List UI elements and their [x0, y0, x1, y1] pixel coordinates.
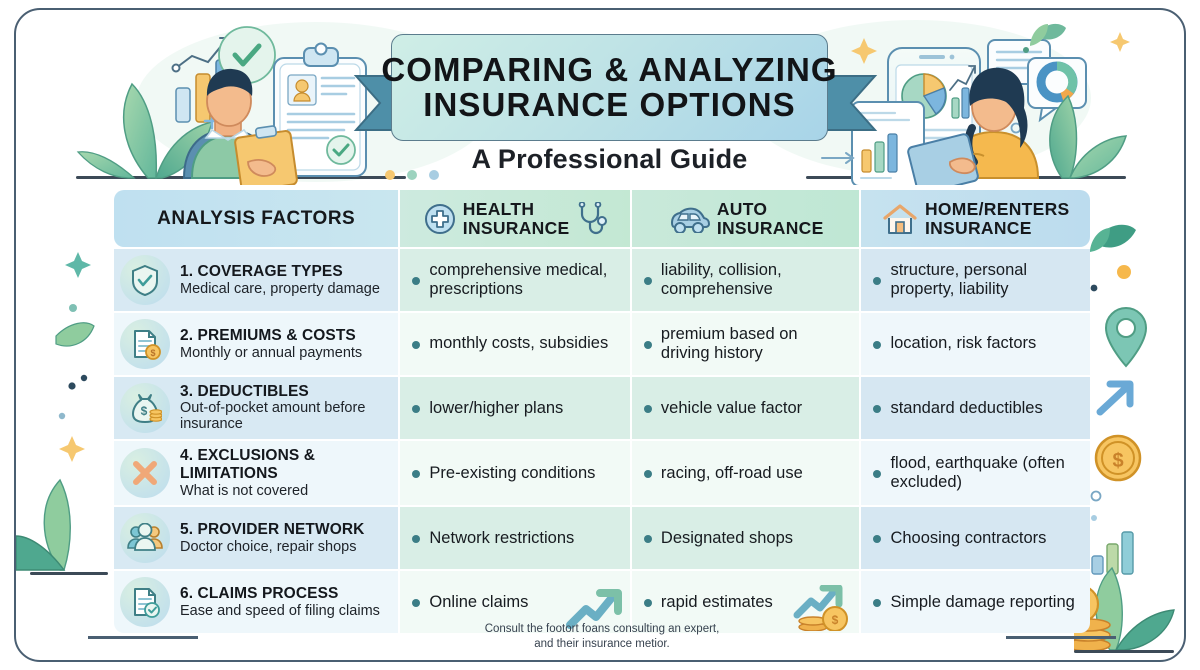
- home-cell: standard deductibles: [861, 377, 1090, 439]
- factor-subtitle: Monthly or annual payments: [180, 345, 362, 361]
- dot-orange-right: [1117, 265, 1131, 279]
- column-header-line2: INSURANCE: [717, 219, 824, 238]
- column-header-home-renters-insurance: HOME/RENTERS INSURANCE: [861, 190, 1090, 247]
- footer-rule-right: [1006, 636, 1116, 639]
- factor-title: 6. CLAIMS PROCESS: [180, 585, 380, 602]
- cell-text: premium based on driving history: [661, 325, 850, 363]
- auto-cell: vehicle value factor: [632, 377, 860, 439]
- cell-text: Choosing contractors: [890, 529, 1046, 548]
- cell-text: racing, off-road use: [661, 464, 803, 483]
- bullet-icon: [644, 599, 652, 607]
- factor-title: 1. COVERAGE TYPES: [180, 263, 380, 280]
- bullet-icon: [873, 277, 881, 285]
- factor-title: 5. PROVIDER NETWORK: [180, 521, 364, 538]
- document-check-icon: [120, 577, 170, 627]
- table-header-row: ANALYSIS FACTORS HEALTH INSURANCE: [114, 190, 1090, 247]
- footer-line-2: and their insurance metior.: [16, 637, 1186, 652]
- bullet-icon: [412, 277, 420, 285]
- cell-text: Designated shops: [661, 529, 793, 548]
- money-bag-icon: $: [120, 383, 170, 433]
- factor-title: 4. EXCLUSIONS & LIMITATIONS: [180, 447, 390, 482]
- home-cell: Choosing contractors: [861, 507, 1090, 569]
- footer: Consult the footort foans consulting an …: [16, 622, 1186, 652]
- dot-light: [59, 413, 65, 419]
- arrow-up-icon: [1100, 384, 1130, 412]
- right-margin-decorations: $ $: [1074, 190, 1184, 660]
- left-margin-decorations: [16, 190, 116, 660]
- column-header-line1: AUTO: [717, 200, 824, 219]
- bullet-icon: [873, 535, 881, 543]
- title-line-2: INSURANCE OPTIONS: [423, 88, 796, 122]
- sparkle-icon-2: [1110, 32, 1130, 52]
- document-dollar-icon: $: [120, 319, 170, 369]
- bullet-icon: [412, 405, 420, 413]
- column-header-line2: INSURANCE: [463, 219, 570, 238]
- column-header-line2: INSURANCE: [925, 219, 1070, 238]
- auto-cell: Designated shops: [632, 507, 860, 569]
- factor-subtitle: Ease and speed of filing claims: [180, 603, 380, 619]
- factor-cell: $ 3. DEDUCTIBLES Out-of-pocket amount be…: [114, 377, 398, 439]
- people-group-icon: [120, 513, 170, 563]
- cell-text: lower/higher plans: [429, 399, 563, 418]
- bullet-icon: [873, 405, 881, 413]
- bullet-icon: [644, 341, 652, 349]
- factor-subtitle: Out-of-pocket amount before insurance: [180, 401, 390, 433]
- health-cell: monthly costs, subsidies: [400, 313, 630, 375]
- factor-cell: 4. EXCLUSIONS & LIMITATIONS What is not …: [114, 441, 398, 505]
- stethoscope-icon: [577, 202, 607, 236]
- title-line-1: COMPARING & ANALYZING: [381, 53, 837, 87]
- home-cell: location, risk factors: [861, 313, 1090, 375]
- cell-text: liability, collision, comprehensive: [661, 261, 850, 299]
- cell-text: comprehensive medical, prescriptions: [429, 261, 620, 299]
- column-header-line1: HEALTH: [463, 200, 570, 219]
- cell-text: monthly costs, subsidies: [429, 334, 608, 353]
- cell-text: Online claims: [429, 593, 528, 612]
- infographic-frame: COMPARING & ANALYZING INSURANCE OPTIONS …: [14, 8, 1186, 662]
- footer-line-1: Consult the footort foans consulting an …: [16, 622, 1186, 637]
- car-icon: [668, 205, 710, 233]
- svg-text:$: $: [150, 348, 155, 358]
- bullet-icon: [412, 535, 420, 543]
- auto-cell: liability, collision, comprehensive: [632, 249, 860, 311]
- home-cell: flood, earthquake (often excluded): [861, 441, 1090, 505]
- factor-title: 3. DEDUCTIBLES: [180, 383, 390, 400]
- x-cross-icon: [120, 448, 170, 498]
- shield-check-icon: [120, 255, 170, 305]
- dot-dark: [68, 382, 75, 389]
- column-header-analysis-factors: ANALYSIS FACTORS: [114, 190, 398, 247]
- bullet-icon: [873, 470, 881, 478]
- dot-dark-2: [81, 375, 87, 381]
- table-row: 5. PROVIDER NETWORK Doctor choice, repai…: [114, 507, 1090, 569]
- subtitle: A Professional Guide: [391, 144, 828, 175]
- sparkle-teal-icon: [65, 252, 91, 278]
- table-row: $ 2. PREMIUMS & COSTS Monthly or annual …: [114, 313, 1090, 375]
- leaf-icon: [56, 323, 94, 346]
- factor-cell: $ 2. PREMIUMS & COSTS Monthly or annual …: [114, 313, 398, 375]
- small-ring-right: [1092, 492, 1101, 501]
- table-row: 4. EXCLUSIONS & LIMITATIONS What is not …: [114, 441, 1090, 505]
- table-row: $ 3. DEDUCTIBLES Out-of-pocket amount be…: [114, 377, 1090, 439]
- bullet-icon: [644, 535, 652, 543]
- column-header-health-insurance: HEALTH INSURANCE: [400, 190, 630, 247]
- bullet-icon: [644, 405, 652, 413]
- auto-cell: racing, off-road use: [632, 441, 860, 505]
- footer-rule-left: [88, 636, 198, 639]
- cell-text: Network restrictions: [429, 529, 574, 548]
- bullet-icon: [873, 341, 881, 349]
- health-cell: Pre-existing conditions: [400, 441, 630, 505]
- column-header-auto-insurance: AUTO INSURANCE: [632, 190, 860, 247]
- factor-subtitle: What is not covered: [180, 483, 390, 499]
- cell-text: flood, earthquake (often excluded): [890, 454, 1080, 492]
- cell-text: location, risk factors: [890, 334, 1036, 353]
- house-icon: [882, 202, 918, 236]
- cell-text: rapid estimates: [661, 593, 773, 612]
- bullet-icon: [412, 470, 420, 478]
- bullet-icon: [644, 277, 652, 285]
- home-cell: structure, personal property, liability: [861, 249, 1090, 311]
- svg-text:$: $: [1112, 450, 1123, 472]
- sparkle-orange-icon: [59, 436, 85, 462]
- comparison-table: ANALYSIS FACTORS HEALTH INSURANCE: [114, 190, 1090, 633]
- medical-cross-icon: [424, 203, 456, 235]
- dot-dark-right: [1091, 285, 1098, 292]
- table-row: 1. COVERAGE TYPES Medical care, property…: [114, 249, 1090, 311]
- cell-text: Simple damage reporting: [890, 593, 1074, 612]
- auto-cell: premium based on driving history: [632, 313, 860, 375]
- svg-text:$: $: [141, 404, 148, 418]
- dot-light-right: [1091, 515, 1097, 521]
- coin-icon: $: [1096, 436, 1140, 480]
- header-illustration: COMPARING & ANALYZING INSURANCE OPTIONS …: [16, 10, 1186, 182]
- factor-subtitle: Doctor choice, repair shops: [180, 539, 364, 555]
- bullet-icon: [873, 599, 881, 607]
- bullet-icon: [644, 470, 652, 478]
- cell-text: Pre-existing conditions: [429, 464, 595, 483]
- health-cell: comprehensive medical, prescriptions: [400, 249, 630, 311]
- dot-teal: [69, 304, 77, 312]
- factor-cell: 1. COVERAGE TYPES Medical care, property…: [114, 249, 398, 311]
- column-header-label: ANALYSIS FACTORS: [157, 208, 355, 230]
- health-cell: Network restrictions: [400, 507, 630, 569]
- bullet-icon: [412, 599, 420, 607]
- bullet-icon: [412, 341, 420, 349]
- title-banner: COMPARING & ANALYZING INSURANCE OPTIONS: [391, 34, 828, 141]
- cell-text: vehicle value factor: [661, 399, 802, 418]
- factor-title: 2. PREMIUMS & COSTS: [180, 327, 362, 344]
- location-pin-icon: [1106, 308, 1146, 366]
- cell-text: structure, personal property, liability: [890, 261, 1080, 299]
- cell-text: standard deductibles: [890, 399, 1042, 418]
- factor-cell: 5. PROVIDER NETWORK Doctor choice, repai…: [114, 507, 398, 569]
- column-header-line1: HOME/RENTERS: [925, 200, 1070, 219]
- factor-subtitle: Medical care, property damage: [180, 281, 380, 297]
- health-cell: lower/higher plans: [400, 377, 630, 439]
